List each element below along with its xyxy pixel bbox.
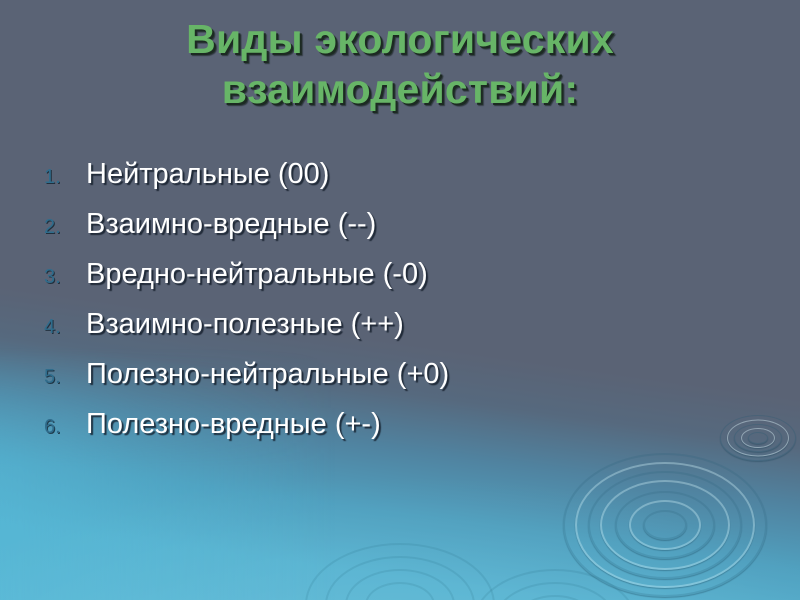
list-item-number: 1. <box>38 166 86 189</box>
list-item: 6. Полезно-вредные (+-) <box>38 408 780 458</box>
list-item-label: Полезно-нейтральные (+0) <box>86 358 449 391</box>
list-item-label: Нейтральные (00) <box>86 158 329 191</box>
list-item: 3. Вредно-нейтральные (-0) <box>38 258 780 308</box>
list-item: 1. Нейтральные (00) <box>38 158 780 208</box>
list-item-number: 2. <box>38 216 86 239</box>
water-ripple-edge-icon <box>470 548 640 600</box>
slide-canvas: Виды экологических взаимодействий: 1. Не… <box>0 0 800 600</box>
list-item-number: 5. <box>38 366 86 389</box>
list-item-number: 4. <box>38 316 86 339</box>
list-item-label: Взаимно-полезные (++) <box>86 308 404 341</box>
list-item-label: Взаимно-вредные (--) <box>86 208 376 241</box>
list-item-label: Полезно-вредные (+-) <box>86 408 381 441</box>
list-item: 4. Взаимно-полезные (++) <box>38 308 780 358</box>
list-item-label: Вредно-нейтральные (-0) <box>86 258 428 291</box>
list-item: 5. Полезно-нейтральные (+0) <box>38 358 780 408</box>
list-item-number: 3. <box>38 266 86 289</box>
interaction-types-list: 1. Нейтральные (00) 2. Взаимно-вредные (… <box>38 158 780 458</box>
list-item: 2. Взаимно-вредные (--) <box>38 208 780 258</box>
page-title: Виды экологических взаимодействий: <box>0 14 800 115</box>
list-item-number: 6. <box>38 416 86 439</box>
water-ripple-faint-icon <box>300 520 500 600</box>
